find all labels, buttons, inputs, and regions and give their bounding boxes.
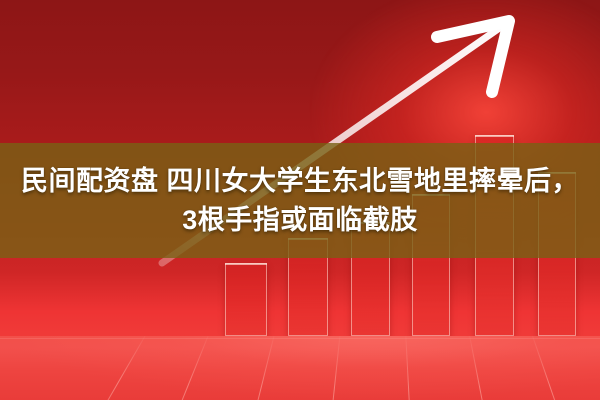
bar-top-edge xyxy=(475,135,514,137)
floor-sheen xyxy=(0,336,600,400)
floor-horizon-line xyxy=(0,338,600,339)
perspective-floor xyxy=(0,336,600,400)
thumbnail-canvas: 民间配资盘 四川女大学生东北雪地里摔晕后，3根手指或面临截肢 xyxy=(0,0,600,400)
headline-text: 民间配资盘 四川女大学生东北雪地里摔晕后，3根手指或面临截肢 xyxy=(20,162,580,239)
title-overlay-band: 民间配资盘 四川女大学生东北雪地里摔晕后，3根手指或面临截肢 xyxy=(0,143,600,258)
chart-bar xyxy=(225,263,267,336)
bar-top-edge xyxy=(225,263,267,265)
